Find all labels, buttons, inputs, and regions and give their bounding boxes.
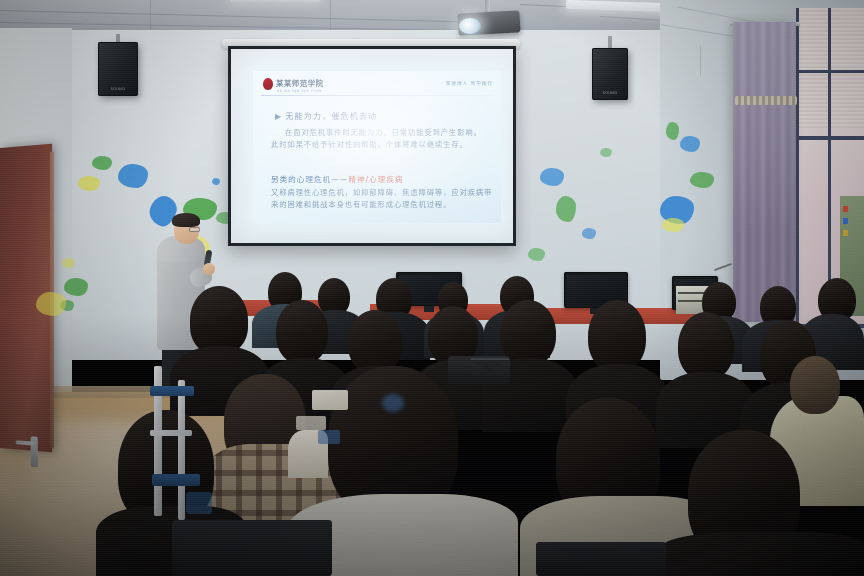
slide-heading: ▶无能为力，催危机去动: [275, 111, 377, 122]
monitor-stand-1: [424, 306, 434, 312]
slide-paragraph-2: 又称病理性心理危机，如抑郁障碍、焦虑障碍等，应对疾病带来的困难和挑战本身也有可能…: [271, 187, 493, 210]
paint-splatter-yellow: [78, 176, 100, 191]
paint-splatter-blue: [118, 164, 148, 188]
paint-splatter-green-9: [690, 172, 714, 188]
paint-splatter-green-2: [92, 156, 112, 170]
audience-dark-top: [660, 532, 864, 576]
audience-head: [588, 300, 646, 372]
paint-splatter-blue-5: [582, 228, 596, 239]
paper-sheet-2: [296, 416, 326, 430]
projection-screen: 某某师范学院 XX SHI FAN XUE YUAN 厚德博人 笃学践行 ▶无能…: [228, 46, 516, 246]
presenter-hand: [203, 263, 215, 275]
slide-logo-text: 某某师范学院: [276, 80, 323, 88]
projector-lens-icon: [459, 18, 481, 34]
chair-seat-left-2: [152, 474, 200, 486]
slide-key-highlight: 精神/心理疾病: [348, 175, 403, 184]
paint-splatter-blue-6: [680, 136, 700, 152]
slide-logo-subtext: XX SHI FAN XUE YUAN: [277, 89, 322, 93]
wall-seam: [700, 46, 701, 76]
audience-head: [678, 312, 734, 380]
ceiling-light-3: [230, 0, 320, 2]
paint-splatter-yellow-5: [662, 218, 684, 232]
audience-head: [790, 356, 840, 414]
blue-item-2: [186, 492, 212, 514]
audience-head: [190, 286, 248, 354]
chair-back-front: [172, 520, 332, 576]
paint-splatter-yellow-3: [62, 258, 75, 268]
projected-slide: 某某师范学院 XX SHI FAN XUE YUAN 厚德博人 笃学践行 ▶无能…: [253, 71, 501, 223]
chair-rail-left: [150, 430, 192, 436]
board-magnet-yellow: [843, 230, 848, 236]
paint-splatter-blue-3: [212, 178, 220, 185]
paint-splatter-blue-4: [540, 168, 564, 186]
slide-paragraph-1-text: 在面对危机事件时无能为力，日常功能受到产生影响。此时如果不给予针对性的帮助，个体…: [271, 127, 489, 150]
paint-splatter-green-8: [666, 122, 679, 140]
door-lever[interactable]: [16, 440, 34, 445]
slide-paragraph-1: 在面对危机事件时无能为力，日常功能受到产生影响。此时如果不给予针对性的帮助，个体…: [271, 127, 489, 150]
board-magnet-blue: [843, 218, 848, 224]
chair-seat-left: [150, 386, 194, 396]
paint-splatter-yellow-4: [36, 292, 66, 316]
chair-frame-left-2: [178, 380, 185, 520]
slide-divider: [261, 95, 493, 96]
speaker-brand-left: SOUND: [111, 87, 126, 91]
wall-speaker-right: SOUND: [592, 48, 628, 100]
audience-head: [348, 310, 402, 374]
slide-heading-text: 无能为力，催危机去动: [285, 112, 377, 121]
paint-splatter-green-10: [600, 148, 612, 157]
blue-item: [318, 430, 340, 444]
presenter-hair: [172, 213, 200, 227]
chair-back-mid: [448, 356, 510, 384]
lecture-hall-photo: SOUND SOUND 某某师范学院 XX SHI FAN XUE YUAN 厚…: [0, 0, 864, 576]
chair-back-right: [536, 542, 666, 576]
board-magnet-red: [843, 206, 848, 212]
window-frame-edge: [796, 8, 799, 328]
wall-speaker-left: SOUND: [98, 42, 138, 96]
paint-splatter-green-7: [528, 248, 545, 261]
window-curtain[interactable]: [733, 22, 796, 322]
paint-splatter-green-3: [64, 278, 88, 296]
audience-hair-clip: [382, 394, 404, 412]
curtain-hooks: [735, 96, 797, 105]
slide-key-line: 另类的心理危机——精神/心理疾病: [271, 174, 403, 185]
university-emblem-icon: [263, 78, 273, 90]
presenter-glasses-icon: [189, 227, 200, 232]
slide-key-prefix: 另类的心理危机——: [271, 175, 348, 184]
bullet-arrow-icon: ▶: [275, 112, 282, 121]
slide-motto: 厚德博人 笃学践行: [446, 81, 493, 87]
paint-splatter-green-6: [556, 196, 576, 222]
paper-sheet: [312, 390, 348, 410]
audience-head: [276, 300, 328, 364]
speaker-brand-right: SOUND: [603, 91, 618, 95]
